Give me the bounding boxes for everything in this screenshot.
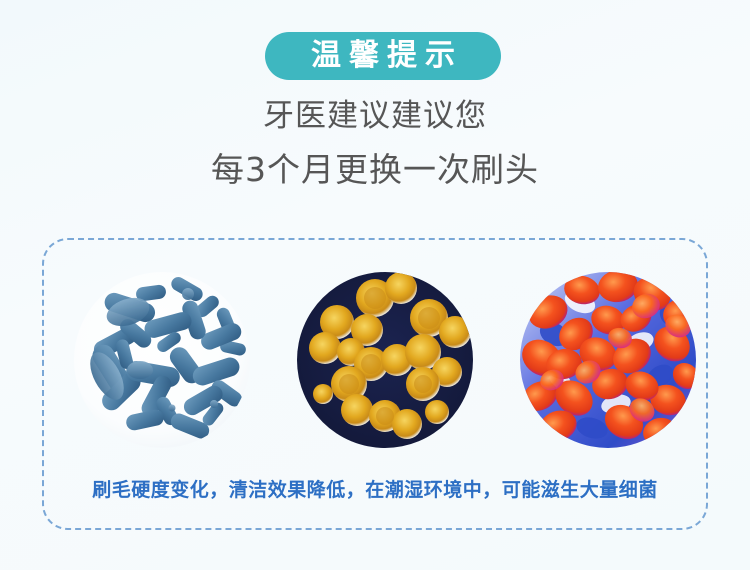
microscope-circle-gold-cocci <box>297 272 473 448</box>
orange-cluster-cells-icon <box>520 272 696 448</box>
panel-caption: 刷毛硬度变化，清洁效果降低，在潮湿环境中，可能滋生大量细菌 <box>0 481 750 500</box>
promo-page: 温馨提示 牙医建议建议您 每3个月更换一次刷头 <box>0 0 750 570</box>
headline-line-2: 每3个月更换一次刷头 <box>0 153 750 186</box>
header-badge: 温馨提示 <box>265 32 501 80</box>
microscope-image-row <box>42 262 708 458</box>
microscope-circle-blue-rods <box>74 272 250 448</box>
blue-rod-bacteria-icon <box>74 272 250 448</box>
header-badge-label: 温馨提示 <box>303 41 463 71</box>
microscope-circle-orange-cluster <box>520 272 696 448</box>
headline-line-1: 牙医建议建议您 <box>0 101 750 132</box>
gold-cocci-bacteria-icon <box>297 272 473 448</box>
